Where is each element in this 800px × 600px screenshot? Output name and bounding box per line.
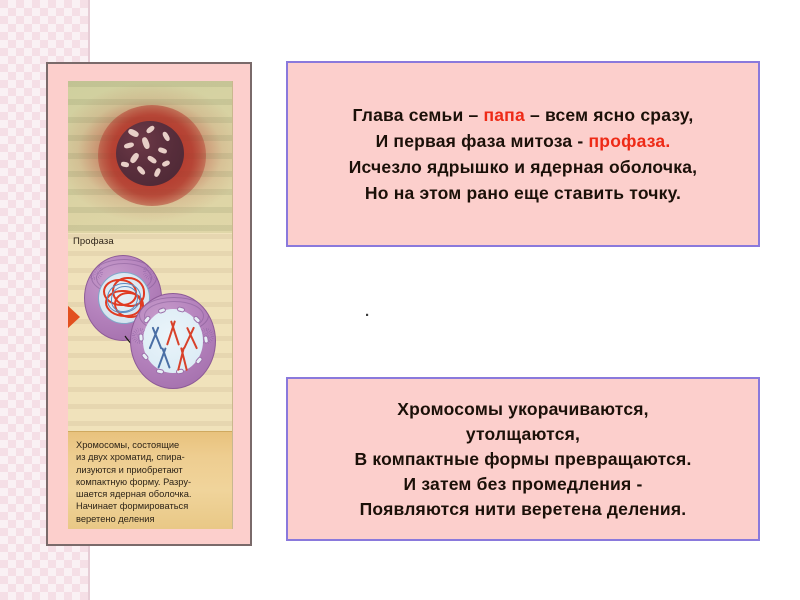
aster-right-icon [143, 264, 159, 280]
verse2-line-4: И затем без промедления - [404, 474, 643, 494]
prophase-picture-frame: Профаза [46, 62, 252, 546]
caption-line: компактную форму. Разру- [76, 476, 226, 488]
verse-highlight-prophase: профаза. [589, 131, 671, 151]
cell-late-prophase [130, 293, 216, 389]
caption-line: из двух хроматид, спира- [76, 451, 226, 463]
micrograph-nucleus [116, 121, 185, 186]
verse-line-3: Исчезло ядрышко и ядерная оболочка, [349, 157, 697, 177]
prophase-picture: Профаза [68, 81, 233, 529]
stray-period: . [365, 303, 369, 320]
verse-highlight-papa: папа [483, 105, 524, 125]
verse-line-2-part-1: И первая фаза митоза - [376, 131, 589, 151]
verse-bottom-text: Хромосомы укорачиваются, утолщаются, В к… [288, 397, 758, 522]
caption-line: Начинает формироваться [76, 500, 226, 512]
verse-box-bottom: Хромосомы укорачиваются, утолщаются, В к… [286, 377, 760, 541]
verse-line-4: Но на этом рано еще ставить точку. [365, 183, 681, 203]
prophase-micrograph-photo [68, 81, 232, 233]
caption-line: Хромосомы, состоящие [76, 439, 226, 451]
verse-top-text: Глава семьи – папа – всем ясно сразу, И … [288, 102, 758, 206]
verse2-line-2: утолщаются, [466, 424, 580, 444]
caption-line: веретено деления [76, 513, 226, 525]
verse-line-1-part-1: Глава семьи – [353, 105, 484, 125]
verse-box-top: Глава семьи – папа – всем ясно сразу, И … [286, 61, 760, 247]
slide-canvas: Профаза [0, 0, 800, 600]
caption-line: лизуются и приобретают [76, 464, 226, 476]
aster-left-icon [87, 264, 103, 280]
picture-caption: Хромосомы, состоящие из двух хроматид, с… [68, 431, 232, 529]
verse-line-1-part-2: – всем ясно сразу, [525, 105, 694, 125]
verse2-line-3: В компактные формы превращаются. [354, 449, 691, 469]
verse2-line-1: Хромосомы укорачиваются, [397, 399, 649, 419]
phase-label: Профаза [73, 236, 114, 247]
verse2-line-5: Появляются нити веретена деления. [360, 499, 687, 519]
caption-line: шается ядерная оболочка. [76, 488, 226, 500]
prophase-cell-diagram [68, 253, 232, 408]
